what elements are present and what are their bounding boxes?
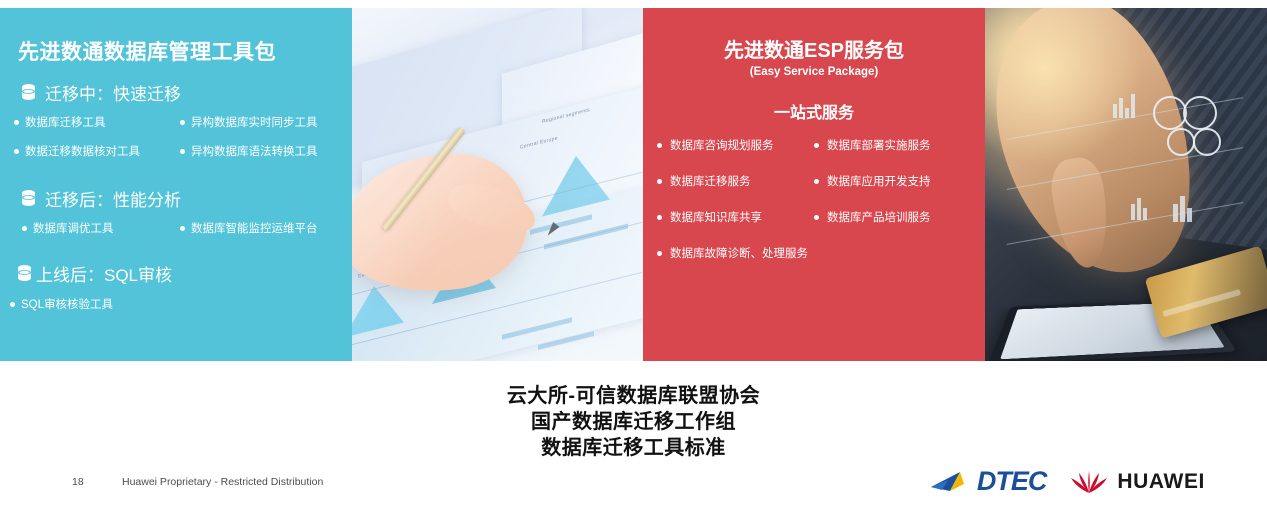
card-stripe [1162, 289, 1241, 317]
bullet-dot-icon [180, 120, 185, 125]
slide-headline: 云大所-可信数据库联盟协会 国产数据库迁移工作组 数据库迁移工具标准 [0, 383, 1267, 461]
teal-bullet-grid-3: SQL审核核验工具 [0, 296, 352, 325]
tablet-fintech-photo [985, 8, 1267, 361]
hud-circle-icon [1167, 128, 1195, 156]
list-item-label: 数据库调优工具 [33, 220, 114, 236]
bullet-dot-icon [10, 302, 15, 307]
dtec-logo: DTEC [930, 466, 1047, 497]
hud-circle-icon [1183, 96, 1217, 130]
hud-bar-icon [1137, 198, 1141, 220]
page-number: 18 [72, 476, 84, 488]
list-item-label: 数据库产品培训服务 [827, 209, 931, 225]
teal-section-heading-1: 迁移中：快速迁移 [0, 80, 352, 105]
list-item: 数据库迁移服务 [657, 173, 814, 189]
teal-info-card: 先进数通数据库管理工具包 迁移中：快速迁移 数据库迁移工具 异构数据库实时同步工… [0, 8, 352, 361]
huawei-wordmark: HUAWEI [1117, 470, 1205, 494]
teal-section-heading-3: 上线后：SQL审核 [0, 261, 352, 286]
headline-line-1: 云大所-可信数据库联盟协会 [0, 383, 1267, 409]
list-item-label: 数据库知识库共享 [670, 209, 762, 225]
confidentiality-notice: Huawei Proprietary - Restricted Distribu… [122, 476, 323, 488]
list-item: 数据库调优工具 [14, 220, 180, 236]
hud-bar-icon [1131, 94, 1135, 118]
database-icon [20, 189, 37, 208]
bullet-dot-icon [657, 215, 662, 220]
list-item-label: 数据库部署实施服务 [827, 137, 931, 153]
list-item: 数据库迁移工具 [14, 114, 180, 130]
teal-section-heading-text: 迁移中：快速迁移 [45, 80, 181, 105]
hud-bar-icon [1113, 104, 1117, 118]
banner-strip: Regional segments Central Europe East Eu… [0, 8, 1267, 361]
teal-bullet-grid-1: 数据库迁移工具 异构数据库实时同步工具 数据迁移数据核对工具 异构数据库语法转换… [0, 114, 352, 172]
list-item: 异构数据库实时同步工具 [180, 114, 346, 130]
database-icon [16, 264, 33, 283]
headline-line-3: 数据库迁移工具标准 [0, 435, 1267, 461]
list-item: 异构数据库语法转换工具 [180, 143, 346, 159]
hud-bar-icon [1180, 196, 1185, 222]
logo-group: DTEC HUAWEI [930, 466, 1205, 497]
dtec-arrow-icon [930, 469, 976, 495]
bullet-dot-icon [814, 215, 819, 220]
list-item-label: 数据迁移数据核对工具 [25, 143, 140, 159]
bullet-dot-icon [657, 179, 662, 184]
list-item-label: 数据库迁移服务 [670, 173, 751, 189]
huawei-flower-icon [1070, 468, 1108, 496]
list-item: 数据库应用开发支持 [814, 173, 971, 189]
headline-line-2: 国产数据库迁移工作组 [0, 409, 1267, 435]
bullet-dot-icon [22, 226, 27, 231]
slide-footer: 18 Huawei Proprietary - Restricted Distr… [0, 464, 1267, 510]
list-item-label: 数据库智能监控运维平台 [191, 220, 318, 236]
list-item: 数据迁移数据核对工具 [14, 143, 180, 159]
hud-bar-icon [1187, 208, 1192, 222]
bullet-dot-icon [657, 251, 662, 256]
red-info-card: 先进数通ESP服务包 (Easy Service Package) 一站式服务 … [643, 8, 985, 361]
list-item: 数据库产品培训服务 [814, 209, 971, 225]
red-card-subtitle: (Easy Service Package) [643, 66, 985, 78]
list-item: 数据库知识库共享 [657, 209, 814, 225]
bullet-dot-icon [657, 143, 662, 148]
slide-canvas: Regional segments Central Europe East Eu… [0, 0, 1267, 510]
bullet-dot-icon [14, 120, 19, 125]
list-item: 数据库部署实施服务 [814, 137, 971, 153]
red-bullet-grid: 数据库咨询规划服务 数据库部署实施服务 数据库迁移服务 数据库应用开发支持 数据… [643, 137, 985, 281]
list-item: 数据库咨询规划服务 [657, 137, 814, 153]
list-item: SQL审核核验工具 [10, 296, 346, 312]
huawei-logo: HUAWEI [1070, 468, 1205, 496]
dtec-wordmark: DTEC [977, 466, 1047, 497]
teal-section-heading-2: 迁移后：性能分析 [0, 186, 352, 211]
red-card-title: 先进数通ESP服务包 [643, 8, 985, 63]
teal-card-title: 先进数通数据库管理工具包 [0, 8, 352, 66]
bullet-dot-icon [180, 226, 185, 231]
red-card-middle-heading: 一站式服务 [643, 99, 985, 123]
bullet-dot-icon [14, 149, 19, 154]
bullet-dot-icon [814, 179, 819, 184]
list-item: 数据库故障诊断、处理服务 [657, 245, 971, 261]
database-icon [20, 83, 37, 102]
bullet-dot-icon [180, 149, 185, 154]
list-item: 数据库智能监控运维平台 [180, 220, 346, 236]
hud-bar-icon [1119, 98, 1123, 118]
list-item-label: 数据库咨询规划服务 [670, 137, 774, 153]
hud-bar-icon [1131, 204, 1135, 220]
list-item-label: 数据库应用开发支持 [827, 173, 931, 189]
bullet-dot-icon [814, 143, 819, 148]
business-charts-photo: Regional segments Central Europe East Eu… [352, 8, 643, 361]
list-item-label: 异构数据库实时同步工具 [191, 114, 318, 130]
teal-section-heading-text: 迁移后：性能分析 [45, 186, 181, 211]
list-item-label: 异构数据库语法转换工具 [191, 143, 318, 159]
teal-bullet-grid-2: 数据库调优工具 数据库智能监控运维平台 [0, 220, 352, 249]
list-item-label: 数据库故障诊断、处理服务 [670, 245, 808, 261]
teal-section-heading-text: 上线后：SQL审核 [36, 261, 172, 286]
list-item-label: SQL审核核验工具 [21, 296, 113, 312]
list-item-label: 数据库迁移工具 [25, 114, 106, 130]
